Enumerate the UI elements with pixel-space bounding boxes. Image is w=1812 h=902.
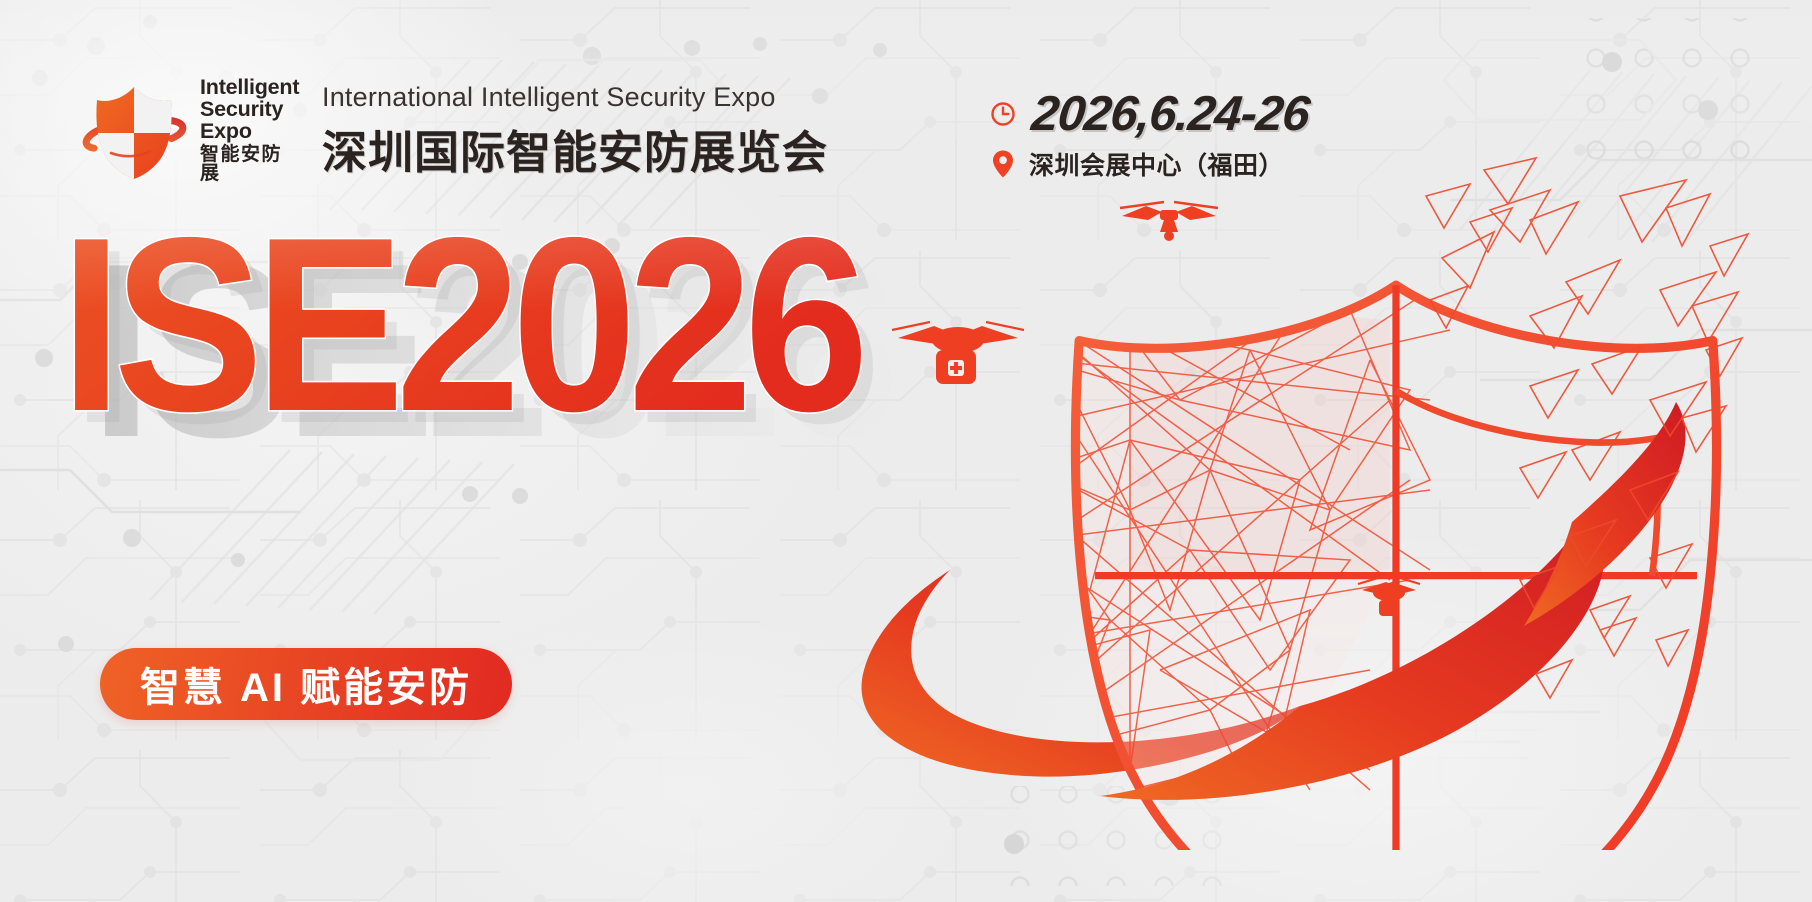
clock-icon	[990, 101, 1016, 127]
drone-medical-icon	[892, 322, 1024, 384]
expo-logo: Intelligent Security Expo 智能安防展	[78, 78, 298, 183]
event-date-row: 2026,6.24-26	[990, 86, 1306, 142]
orbit-swoosh-tip	[1524, 402, 1686, 626]
tagline-text: 智慧 AI 赋能安防	[140, 655, 472, 713]
title-chinese: 深圳国际智能安防展览会	[322, 116, 828, 181]
tagline-pill: 智慧 AI 赋能安防	[100, 648, 512, 720]
logo-line-2: Security Expo	[200, 99, 299, 143]
shield-logo-icon	[78, 81, 190, 181]
event-date: 2026,6.24-26	[1029, 86, 1312, 142]
ise2026-banner: Intelligent Security Expo 智能安防展 Internat…	[0, 0, 1812, 902]
header-title-block: International Intelligent Security Expo …	[322, 82, 828, 181]
drone-top-icon	[1120, 202, 1218, 241]
ise2026-title: ISE2026 ISE2026 ISE2026 ISE2026	[60, 220, 900, 480]
title-english: International Intelligent Security Expo	[322, 82, 828, 113]
shield-artwork	[830, 150, 1812, 850]
logo-line-3: 智能安防展	[200, 145, 299, 184]
logo-line-1: Intelligent	[200, 77, 299, 99]
svg-text:ISE2026: ISE2026	[60, 220, 861, 463]
polygon-particles	[1426, 158, 1748, 698]
